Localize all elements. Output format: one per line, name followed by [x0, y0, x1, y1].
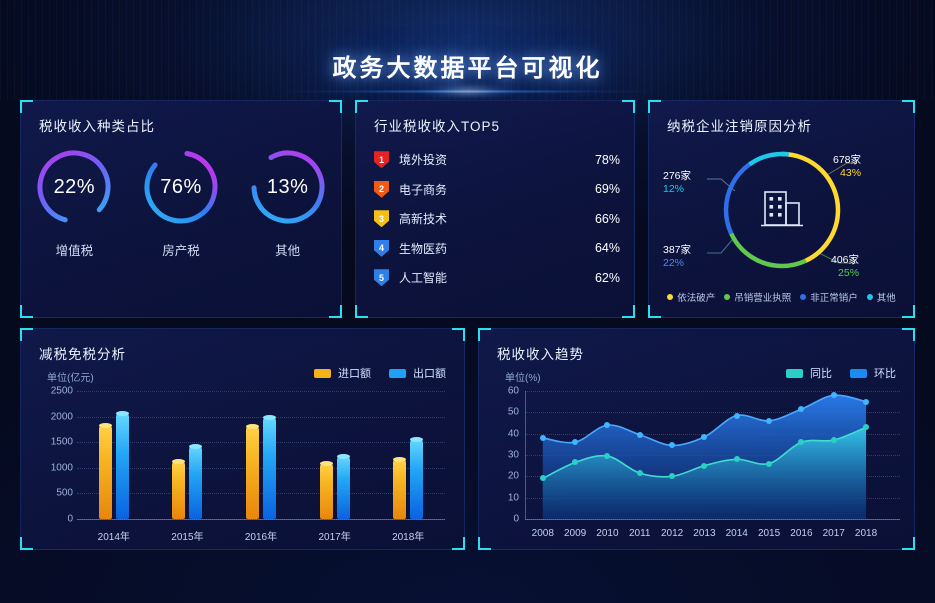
panel-industry-tax-top5: 行业税收收入TOP5 1境外投资78%2电子商务69%3高新技术66%4生物医药…	[355, 100, 635, 318]
corner-bracket-top-right	[452, 328, 465, 341]
x-axis-tick-label: 2016年	[245, 528, 277, 543]
data-point-yoy[interactable]	[669, 473, 675, 479]
top5-row[interactable]: 4生物医药64%	[374, 234, 620, 264]
gauge-label: 增值税	[24, 240, 124, 259]
legend-dot-icon	[800, 294, 806, 300]
top5-bar-track	[469, 186, 576, 193]
donut-legend: 依法破产吊销营业执照非正常销户其他	[649, 290, 914, 304]
top5-row[interactable]: 2电子商务69%	[374, 175, 620, 205]
gridline	[77, 468, 445, 469]
bar-import[interactable]	[172, 461, 185, 519]
data-point-yoy[interactable]	[604, 453, 610, 459]
donut-legend-item[interactable]: 吊销营业执照	[724, 290, 791, 304]
x-axis-tick-label: 2017年	[318, 528, 350, 543]
x-axis-tick-label: 2011	[629, 528, 651, 539]
bar-import[interactable]	[393, 459, 406, 519]
data-point-yoy[interactable]	[734, 456, 740, 462]
corner-bracket-top-right	[902, 100, 915, 113]
dashboard-root: 政务大数据平台可视化 税收收入种类占比	[0, 0, 935, 603]
top5-bar-track	[469, 274, 576, 281]
top5-row[interactable]: 1境外投资78%	[374, 145, 620, 175]
gauge-value: 13%	[247, 146, 329, 228]
data-point-mom[interactable]	[540, 435, 546, 441]
data-point-yoy[interactable]	[798, 439, 804, 445]
rank-badge-icon: 3	[374, 210, 389, 227]
panel-title: 行业税收收入TOP5	[374, 115, 500, 135]
legend-swatch-yoy	[786, 369, 803, 378]
data-point-mom[interactable]	[701, 434, 707, 440]
bar-import[interactable]	[99, 425, 112, 519]
donut-legend-label: 吊销营业执照	[734, 290, 791, 304]
gauge-ring-vat: 22%	[33, 146, 115, 228]
gridline	[77, 391, 445, 392]
donut-legend-label: 其他	[877, 290, 896, 304]
corner-bracket-bottom-right	[329, 305, 342, 318]
rank-badge-icon: 4	[374, 240, 389, 257]
data-point-yoy[interactable]	[540, 475, 546, 481]
panel-tax-reduction-analysis: 减税免税分析 单位(亿元) 进口额 出口额 050010001500200025…	[20, 328, 465, 550]
top5-industry-name: 生物医药	[399, 240, 459, 257]
corner-bracket-bottom-left	[20, 305, 33, 318]
bar-cap	[172, 459, 185, 464]
corner-bracket-bottom-left	[355, 305, 368, 318]
bar-export[interactable]	[337, 456, 350, 519]
y-axis-tick-label: 2500	[43, 386, 73, 397]
corner-bracket-bottom-right	[622, 305, 635, 318]
panel-title: 纳税企业注销原因分析	[667, 115, 812, 135]
data-point-mom[interactable]	[734, 413, 740, 419]
legend-dot-icon	[867, 294, 873, 300]
donut-legend-label: 非正常销户	[810, 290, 858, 304]
corner-bracket-bottom-left	[478, 537, 491, 550]
donut-label-other: 276家 12%	[663, 170, 691, 196]
header-light-glow	[398, 82, 538, 100]
legend-label-mom: 环比	[874, 365, 896, 381]
data-point-mom[interactable]	[669, 442, 675, 448]
gauge-ring-other: 13%	[247, 146, 329, 228]
corner-bracket-top-right	[902, 328, 915, 341]
gauge-label: 房产税	[131, 240, 231, 259]
x-axis-tick-label: 2015	[758, 528, 780, 539]
bar-cap	[99, 423, 112, 428]
y-axis-tick-label: 0	[43, 514, 73, 525]
top5-percent: 64%	[586, 241, 620, 255]
panel-title: 税收收入趋势	[497, 343, 584, 363]
top5-row[interactable]: 5人工智能62%	[374, 263, 620, 293]
data-point-mom[interactable]	[863, 399, 869, 405]
rank-badge-icon: 1	[374, 151, 389, 168]
top5-list: 1境外投资78%2电子商务69%3高新技术66%4生物医药64%5人工智能62%	[374, 145, 620, 293]
corner-bracket-bottom-right	[452, 537, 465, 550]
data-point-yoy[interactable]	[766, 461, 772, 467]
top5-industry-name: 人工智能	[399, 269, 459, 286]
panel-title: 税收收入种类占比	[39, 115, 155, 135]
bar-export[interactable]	[189, 446, 202, 519]
panel-tax-income-share: 税收收入种类占比 22%	[20, 100, 342, 318]
bar-cap	[410, 437, 423, 442]
top5-bar-track	[469, 215, 576, 222]
bar-cap	[393, 457, 406, 462]
x-axis-tick-label: 2018年	[392, 528, 424, 543]
gauge-group: 22% 增值税	[21, 146, 341, 259]
bar-cap	[116, 411, 129, 416]
legend-swatch-mom	[850, 369, 867, 378]
bar-cap	[337, 454, 350, 459]
bar-import[interactable]	[246, 426, 259, 519]
data-point-mom[interactable]	[637, 432, 643, 438]
legend-swatch-import	[314, 369, 331, 378]
corner-bracket-bottom-left	[648, 305, 661, 318]
bar-cap	[246, 424, 259, 429]
gauge-item-property-tax[interactable]: 76% 房产税	[131, 146, 231, 259]
y-axis-tick-label: 30	[495, 450, 519, 461]
bar-import[interactable]	[320, 463, 333, 519]
top5-bar-track	[469, 245, 576, 252]
legend-item-export[interactable]: 出口额	[389, 365, 446, 381]
y-axis-tick-label: 40	[495, 428, 519, 439]
legend-dot-icon	[667, 294, 673, 300]
x-axis-baseline	[77, 519, 445, 520]
panel-tax-income-trend: 税收收入趋势 单位(%) 同比 环比 010203040506020082009…	[478, 328, 915, 550]
legend-swatch-export	[389, 369, 406, 378]
corner-bracket-top-left	[648, 100, 661, 113]
x-axis-tick-label: 2012	[661, 528, 683, 539]
donut-chart: 678家 43% 276家 12% 387家 22% 406家 25%	[649, 135, 914, 285]
x-axis-tick-label: 2017	[823, 528, 845, 539]
data-point-yoy[interactable]	[831, 437, 837, 443]
y-axis-tick-label: 1000	[43, 462, 73, 473]
data-point-yoy[interactable]	[572, 459, 578, 465]
data-point-mom[interactable]	[572, 439, 578, 445]
top5-percent: 78%	[586, 153, 620, 167]
legend-label-import: 进口额	[338, 365, 371, 381]
legend-label-yoy: 同比	[810, 365, 832, 381]
data-point-mom[interactable]	[831, 392, 837, 398]
y-axis-tick-label: 10	[495, 492, 519, 503]
dashboard-header: 政务大数据平台可视化	[0, 0, 935, 100]
donut-legend-item[interactable]: 其他	[867, 290, 896, 304]
donut-label-license-revoked: 406家 25%	[831, 254, 859, 280]
data-point-mom[interactable]	[766, 418, 772, 424]
panel-cancellation-reasons: 纳税企业注销原因分析	[648, 100, 915, 318]
x-axis-tick-label: 2018	[855, 528, 877, 539]
top5-industry-name: 高新技术	[399, 210, 459, 227]
page-title: 政务大数据平台可视化	[0, 48, 935, 83]
bar-cap	[320, 461, 333, 466]
y-axis-tick-label: 1500	[43, 437, 73, 448]
bar-export[interactable]	[410, 439, 423, 519]
bar-cap	[263, 415, 276, 420]
gauge-item-vat[interactable]: 22% 增值税	[24, 146, 124, 259]
y-axis-tick-label: 0	[495, 514, 519, 525]
corner-bracket-bottom-right	[902, 537, 915, 550]
rank-badge-icon: 2	[374, 181, 389, 198]
gauge-item-other[interactable]: 13% 其他	[238, 146, 338, 259]
bar-cap	[189, 444, 202, 449]
bar-export[interactable]	[116, 413, 129, 519]
x-axis-tick-label: 2008	[532, 528, 554, 539]
y-axis-tick-label: 500	[43, 488, 73, 499]
trend-area-svg	[525, 391, 900, 519]
data-point-yoy[interactable]	[637, 470, 643, 476]
x-axis-tick-label: 2013	[693, 528, 715, 539]
corner-bracket-top-right	[622, 100, 635, 113]
gridline	[77, 417, 445, 418]
corner-bracket-top-left	[20, 100, 33, 113]
y-axis-tick-label: 50	[495, 407, 519, 418]
gauge-value: 22%	[33, 146, 115, 228]
data-point-mom[interactable]	[798, 406, 804, 412]
panel-title: 减税免税分析	[39, 343, 126, 363]
building-icon	[761, 192, 803, 226]
y-axis-tick-label: 2000	[43, 411, 73, 422]
corner-bracket-top-left	[20, 328, 33, 341]
donut-label-abnormal: 387家 22%	[663, 244, 691, 270]
x-axis-baseline	[525, 519, 900, 520]
donut-label-bankruptcy: 678家 43%	[833, 154, 861, 180]
corner-bracket-bottom-left	[20, 537, 33, 550]
top5-percent: 66%	[586, 212, 620, 226]
donut-legend-item[interactable]: 依法破产	[667, 290, 715, 304]
x-axis-tick-label: 2016	[790, 528, 812, 539]
corner-bracket-top-left	[478, 328, 491, 341]
x-axis-tick-label: 2014	[726, 528, 748, 539]
gauge-value: 76%	[140, 146, 222, 228]
donut-legend-item[interactable]: 非正常销户	[800, 290, 858, 304]
gridline	[77, 442, 445, 443]
trend-chart-plot[interactable]: 0102030405060200820092010201120122013201…	[525, 391, 900, 519]
rank-badge-icon: 5	[374, 269, 389, 286]
gauge-label: 其他	[238, 240, 338, 259]
legend-dot-icon	[724, 294, 730, 300]
trend-chart-legend: 同比 环比	[786, 365, 896, 381]
x-axis-tick-label: 2010	[596, 528, 618, 539]
x-axis-tick-label: 2009	[564, 528, 586, 539]
trend-chart-unit-label: 单位(%)	[505, 369, 541, 384]
bar-chart-legend: 进口额 出口额	[314, 365, 446, 381]
top5-percent: 62%	[586, 271, 620, 285]
legend-item-mom[interactable]: 环比	[850, 365, 896, 381]
donut-legend-label: 依法破产	[677, 290, 715, 304]
y-axis-tick-label: 60	[495, 386, 519, 397]
data-point-mom[interactable]	[604, 422, 610, 428]
top5-industry-name: 电子商务	[399, 181, 459, 198]
corner-bracket-bottom-right	[902, 305, 915, 318]
bar-chart-unit-label: 单位(亿元)	[47, 369, 94, 384]
top5-bar-track	[469, 156, 576, 163]
top5-percent: 69%	[586, 182, 620, 196]
top5-industry-name: 境外投资	[399, 151, 459, 168]
data-point-yoy[interactable]	[863, 424, 869, 430]
corner-bracket-top-left	[355, 100, 368, 113]
x-axis-tick-label: 2015年	[171, 528, 203, 543]
legend-item-yoy[interactable]: 同比	[786, 365, 832, 381]
legend-label-export: 出口额	[413, 365, 446, 381]
top5-row[interactable]: 3高新技术66%	[374, 204, 620, 234]
legend-item-import[interactable]: 进口额	[314, 365, 371, 381]
gridline	[77, 493, 445, 494]
y-axis-tick-label: 20	[495, 471, 519, 482]
bar-export[interactable]	[263, 417, 276, 519]
data-point-yoy[interactable]	[701, 463, 707, 469]
corner-bracket-top-right	[329, 100, 342, 113]
gauge-ring-property-tax: 76%	[140, 146, 222, 228]
x-axis-tick-label: 2014年	[98, 528, 130, 543]
bar-chart-plot[interactable]: 050010001500200025002014年2015年2016年2017年…	[77, 391, 445, 519]
